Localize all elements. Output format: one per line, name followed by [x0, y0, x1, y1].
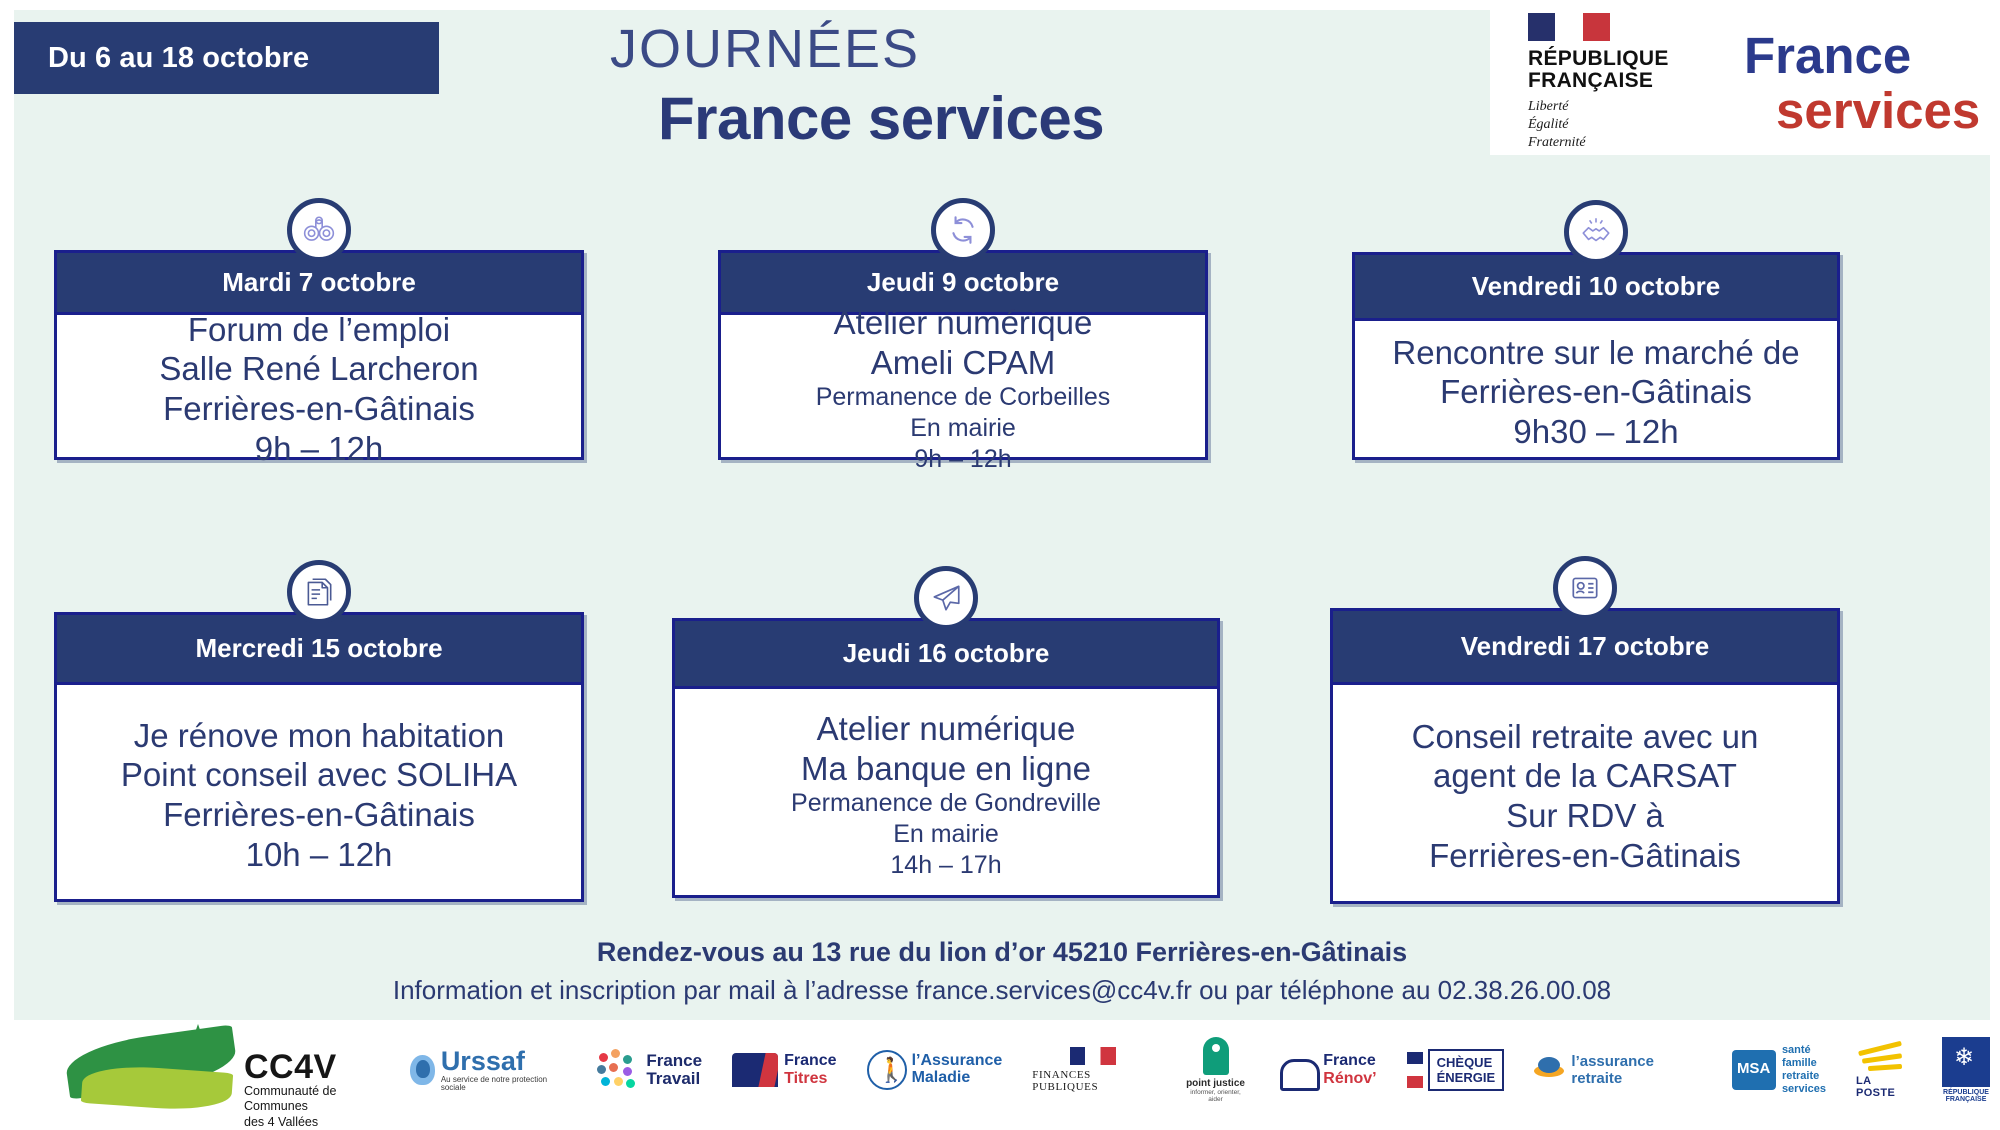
binoculars-icon [287, 198, 351, 262]
finances-publiques-flag-icon [1070, 1047, 1116, 1065]
event-card-details: Conseil retraite avec unagent de la CARS… [1333, 685, 1837, 907]
urssaf-name: Urssaf [441, 1047, 568, 1075]
point-justice-name: point justice [1184, 1078, 1248, 1089]
paper-plane-icon [914, 566, 978, 630]
assurance-maladie-line1: l’Assurance [912, 1053, 1003, 1070]
event-card-details: Rencontre sur le marché deFerrières-en-G… [1355, 321, 1837, 463]
documents-icon [287, 560, 351, 624]
partner-france-titres: France Titres [732, 1035, 836, 1105]
partner-point-justice: point justice informer, orienter, aider [1184, 1035, 1248, 1105]
event-detail-line: 9h – 12h [914, 444, 1011, 475]
date-range-label: Du 6 au 18 octobre [14, 42, 309, 75]
partner-msa: santé famille retraite services [1732, 1035, 1826, 1105]
marianne-logo: RÉPUBLIQUE FRANÇAISE Liberté Égalité Fra… [1528, 13, 1688, 151]
partner-logos: Urssaf Au service de notre protection so… [410, 1035, 1990, 1105]
la-poste-bird-icon [1856, 1042, 1912, 1072]
education-nationale-mark-icon [1942, 1037, 1990, 1087]
france-renov-line1: France [1323, 1052, 1376, 1070]
education-nationale-line1: RÉPUBLIQUE [1942, 1089, 1990, 1096]
poster-canvas: Du 6 au 18 octobre JOURNÉES France servi… [0, 0, 2000, 1125]
partner-france-renov: France Rénov’ [1277, 1035, 1376, 1105]
event-detail-line: Ma banque en ligne [801, 749, 1091, 789]
france-travail-line1: France [646, 1052, 702, 1070]
footer-address: Rendez-vous au 13 rue du lion d’or 45210… [14, 935, 1990, 970]
event-detail-line: Ameli CPAM [871, 343, 1056, 383]
event-detail-line: Rencontre sur le marché de [1392, 333, 1799, 373]
cheque-energie-flag-icon [1407, 1052, 1423, 1088]
france-travail-dots-icon [597, 1049, 639, 1091]
logo-word-france: France [1744, 27, 1911, 84]
event-detail-line: Point conseil avec SOLIHA [121, 755, 517, 795]
france-titres-line2: Titres [784, 1070, 836, 1088]
event-detail-line: 9h30 – 12h [1513, 412, 1678, 452]
francaise-line: FRANÇAISE [1528, 70, 1688, 92]
assurance-maladie-runner-icon [867, 1050, 907, 1090]
cheque-energie-line1: CHÈQUE [1437, 1055, 1496, 1070]
footer-contact-info: Information et inscription par mail à l’… [14, 973, 1990, 1008]
event-card: Vendredi 17 octobreConseil retraite avec… [1330, 608, 1840, 904]
event-card-date: Vendredi 10 octobre [1355, 255, 1837, 321]
event-detail-line: Sur RDV à [1506, 796, 1664, 836]
partner-assurance-retraite: l’assurance retraite [1534, 1035, 1702, 1105]
event-detail-line: 9h – 12h [255, 429, 383, 469]
handshake-icon [1564, 200, 1628, 264]
event-card-details: Atelier numériqueMa banque en lignePerma… [675, 689, 1217, 901]
event-detail-line: 14h – 17h [890, 850, 1001, 881]
left-margin [0, 0, 14, 1125]
event-card-details: Atelier numériqueAmeli CPAMPermanence de… [721, 315, 1205, 463]
france-titres-mark-icon [732, 1053, 778, 1087]
event-detail-line: Atelier numérique [817, 709, 1076, 749]
education-nationale-line2: FRANÇAISE [1942, 1096, 1990, 1103]
event-card: Vendredi 10 octobreRencontre sur le marc… [1352, 252, 1840, 460]
footer-contact: Rendez-vous au 13 rue du lion d’or 45210… [14, 935, 1990, 1008]
poster-title: JOURNÉES France services [560, 18, 1280, 153]
event-card: Mardi 7 octobreForum de l’emploiSalle Re… [54, 250, 584, 460]
event-card-date: Mardi 7 octobre [57, 253, 581, 315]
event-card-date: Mercredi 15 octobre [57, 615, 581, 685]
event-detail-line: Atelier numérique [834, 303, 1093, 343]
msa-sub1: santé [1782, 1044, 1826, 1057]
partner-assurance-maladie: l’Assurance Maladie [867, 1035, 1003, 1105]
id-card-icon [1553, 556, 1617, 620]
brand-panel: RÉPUBLIQUE FRANÇAISE Liberté Égalité Fra… [1490, 10, 1990, 155]
cheque-energie-line2: ÉNERGIE [1437, 1070, 1496, 1085]
france-titres-line1: France [784, 1052, 836, 1070]
france-renov-line2: Rénov’ [1323, 1070, 1376, 1088]
urssaf-mark-icon [410, 1055, 435, 1085]
event-card: Jeudi 9 octobreAtelier numériqueAmeli CP… [718, 250, 1208, 460]
urssaf-tagline: Au service de notre protection sociale [441, 1076, 568, 1093]
devise-egalite: Égalité [1528, 116, 1688, 134]
devise-fraternite: Fraternité [1528, 134, 1688, 152]
event-detail-line: En mairie [910, 413, 1016, 444]
partner-la-poste: LA POSTE [1856, 1035, 1912, 1105]
event-detail-line: Je rénove mon habitation [134, 716, 505, 756]
devise-liberte: Liberté [1528, 98, 1688, 116]
cc4v-logo: CC4V Communauté de Communes des 4 Vallée… [56, 1022, 380, 1118]
partner-education-nationale: RÉPUBLIQUE FRANÇAISE [1942, 1035, 1990, 1105]
event-card-date: Vendredi 17 octobre [1333, 611, 1837, 685]
french-flag-icon [1528, 13, 1610, 41]
france-services-logo: France services [1744, 30, 1980, 136]
point-justice-tagline: informer, orienter, aider [1184, 1089, 1248, 1103]
cc4v-sub-line2: des 4 Vallées [244, 1115, 380, 1130]
la-poste-name: LA POSTE [1856, 1075, 1912, 1099]
event-card-details: Je rénove mon habitationPoint conseil av… [57, 685, 581, 905]
partner-urssaf: Urssaf Au service de notre protection so… [410, 1035, 567, 1105]
republique-line: RÉPUBLIQUE [1528, 48, 1688, 70]
refresh-icon [931, 198, 995, 262]
event-detail-line: Ferrières-en-Gâtinais [163, 795, 475, 835]
event-detail-line: Conseil retraite avec un [1412, 717, 1759, 757]
france-travail-line2: Travail [646, 1070, 702, 1088]
event-detail-line: Salle René Larcheron [159, 349, 478, 389]
event-detail-line: 10h – 12h [246, 835, 393, 875]
msa-sub2: famille [1782, 1057, 1826, 1070]
assurance-maladie-line2: Maladie [912, 1070, 1003, 1087]
cc4v-sub-line1: Communauté de Communes [244, 1084, 380, 1115]
event-card: Jeudi 16 octobreAtelier numériqueMa banq… [672, 618, 1220, 898]
event-detail-line: agent de la CARSAT [1433, 756, 1737, 796]
event-detail-line: Ferrières-en-Gâtinais [1429, 836, 1741, 876]
event-card-details: Forum de l’emploiSalle René LarcheronFer… [57, 315, 581, 463]
msa-sub3: retraite [1782, 1070, 1826, 1083]
msa-sub4: services [1782, 1083, 1826, 1096]
event-detail-line: Forum de l’emploi [188, 310, 450, 350]
event-card-date: Jeudi 16 octobre [675, 621, 1217, 689]
msa-mark-icon [1732, 1050, 1776, 1090]
top-margin [0, 0, 2000, 10]
event-detail-line: Permanence de Gondreville [791, 788, 1101, 819]
assurance-retraite-swish-icon [1534, 1055, 1566, 1085]
partner-cheque-energie: CHÈQUE ÉNERGIE [1407, 1035, 1505, 1105]
partner-logo-strip: CC4V Communauté de Communes des 4 Vallée… [14, 1020, 1990, 1120]
partner-finances-publiques: FINANCES PUBLIQUES [1032, 1035, 1153, 1105]
assurance-retraite-name: l’assurance retraite [1571, 1053, 1702, 1087]
event-detail-line: Ferrières-en-Gâtinais [163, 389, 475, 429]
event-detail-line: Permanence de Corbeilles [816, 382, 1111, 413]
title-france-services: France services [560, 84, 1280, 153]
date-range-banner: Du 6 au 18 octobre [14, 22, 439, 94]
cc4v-subtitle: Communauté de Communes des 4 Vallées [244, 1084, 380, 1130]
event-detail-line: En mairie [893, 819, 999, 850]
title-journees: JOURNÉES [560, 18, 1280, 80]
right-margin [1990, 0, 2000, 1125]
point-justice-pin-icon [1203, 1037, 1229, 1075]
event-card: Mercredi 15 octobreJe rénove mon habitat… [54, 612, 584, 902]
france-renov-house-icon [1277, 1053, 1317, 1087]
logo-word-services: services [1776, 85, 1980, 136]
event-detail-line: Ferrières-en-Gâtinais [1440, 372, 1752, 412]
finances-publiques-name: FINANCES PUBLIQUES [1032, 1069, 1098, 1093]
partner-france-travail: France Travail [597, 1035, 702, 1105]
cc4v-name: CC4V [244, 1048, 337, 1087]
